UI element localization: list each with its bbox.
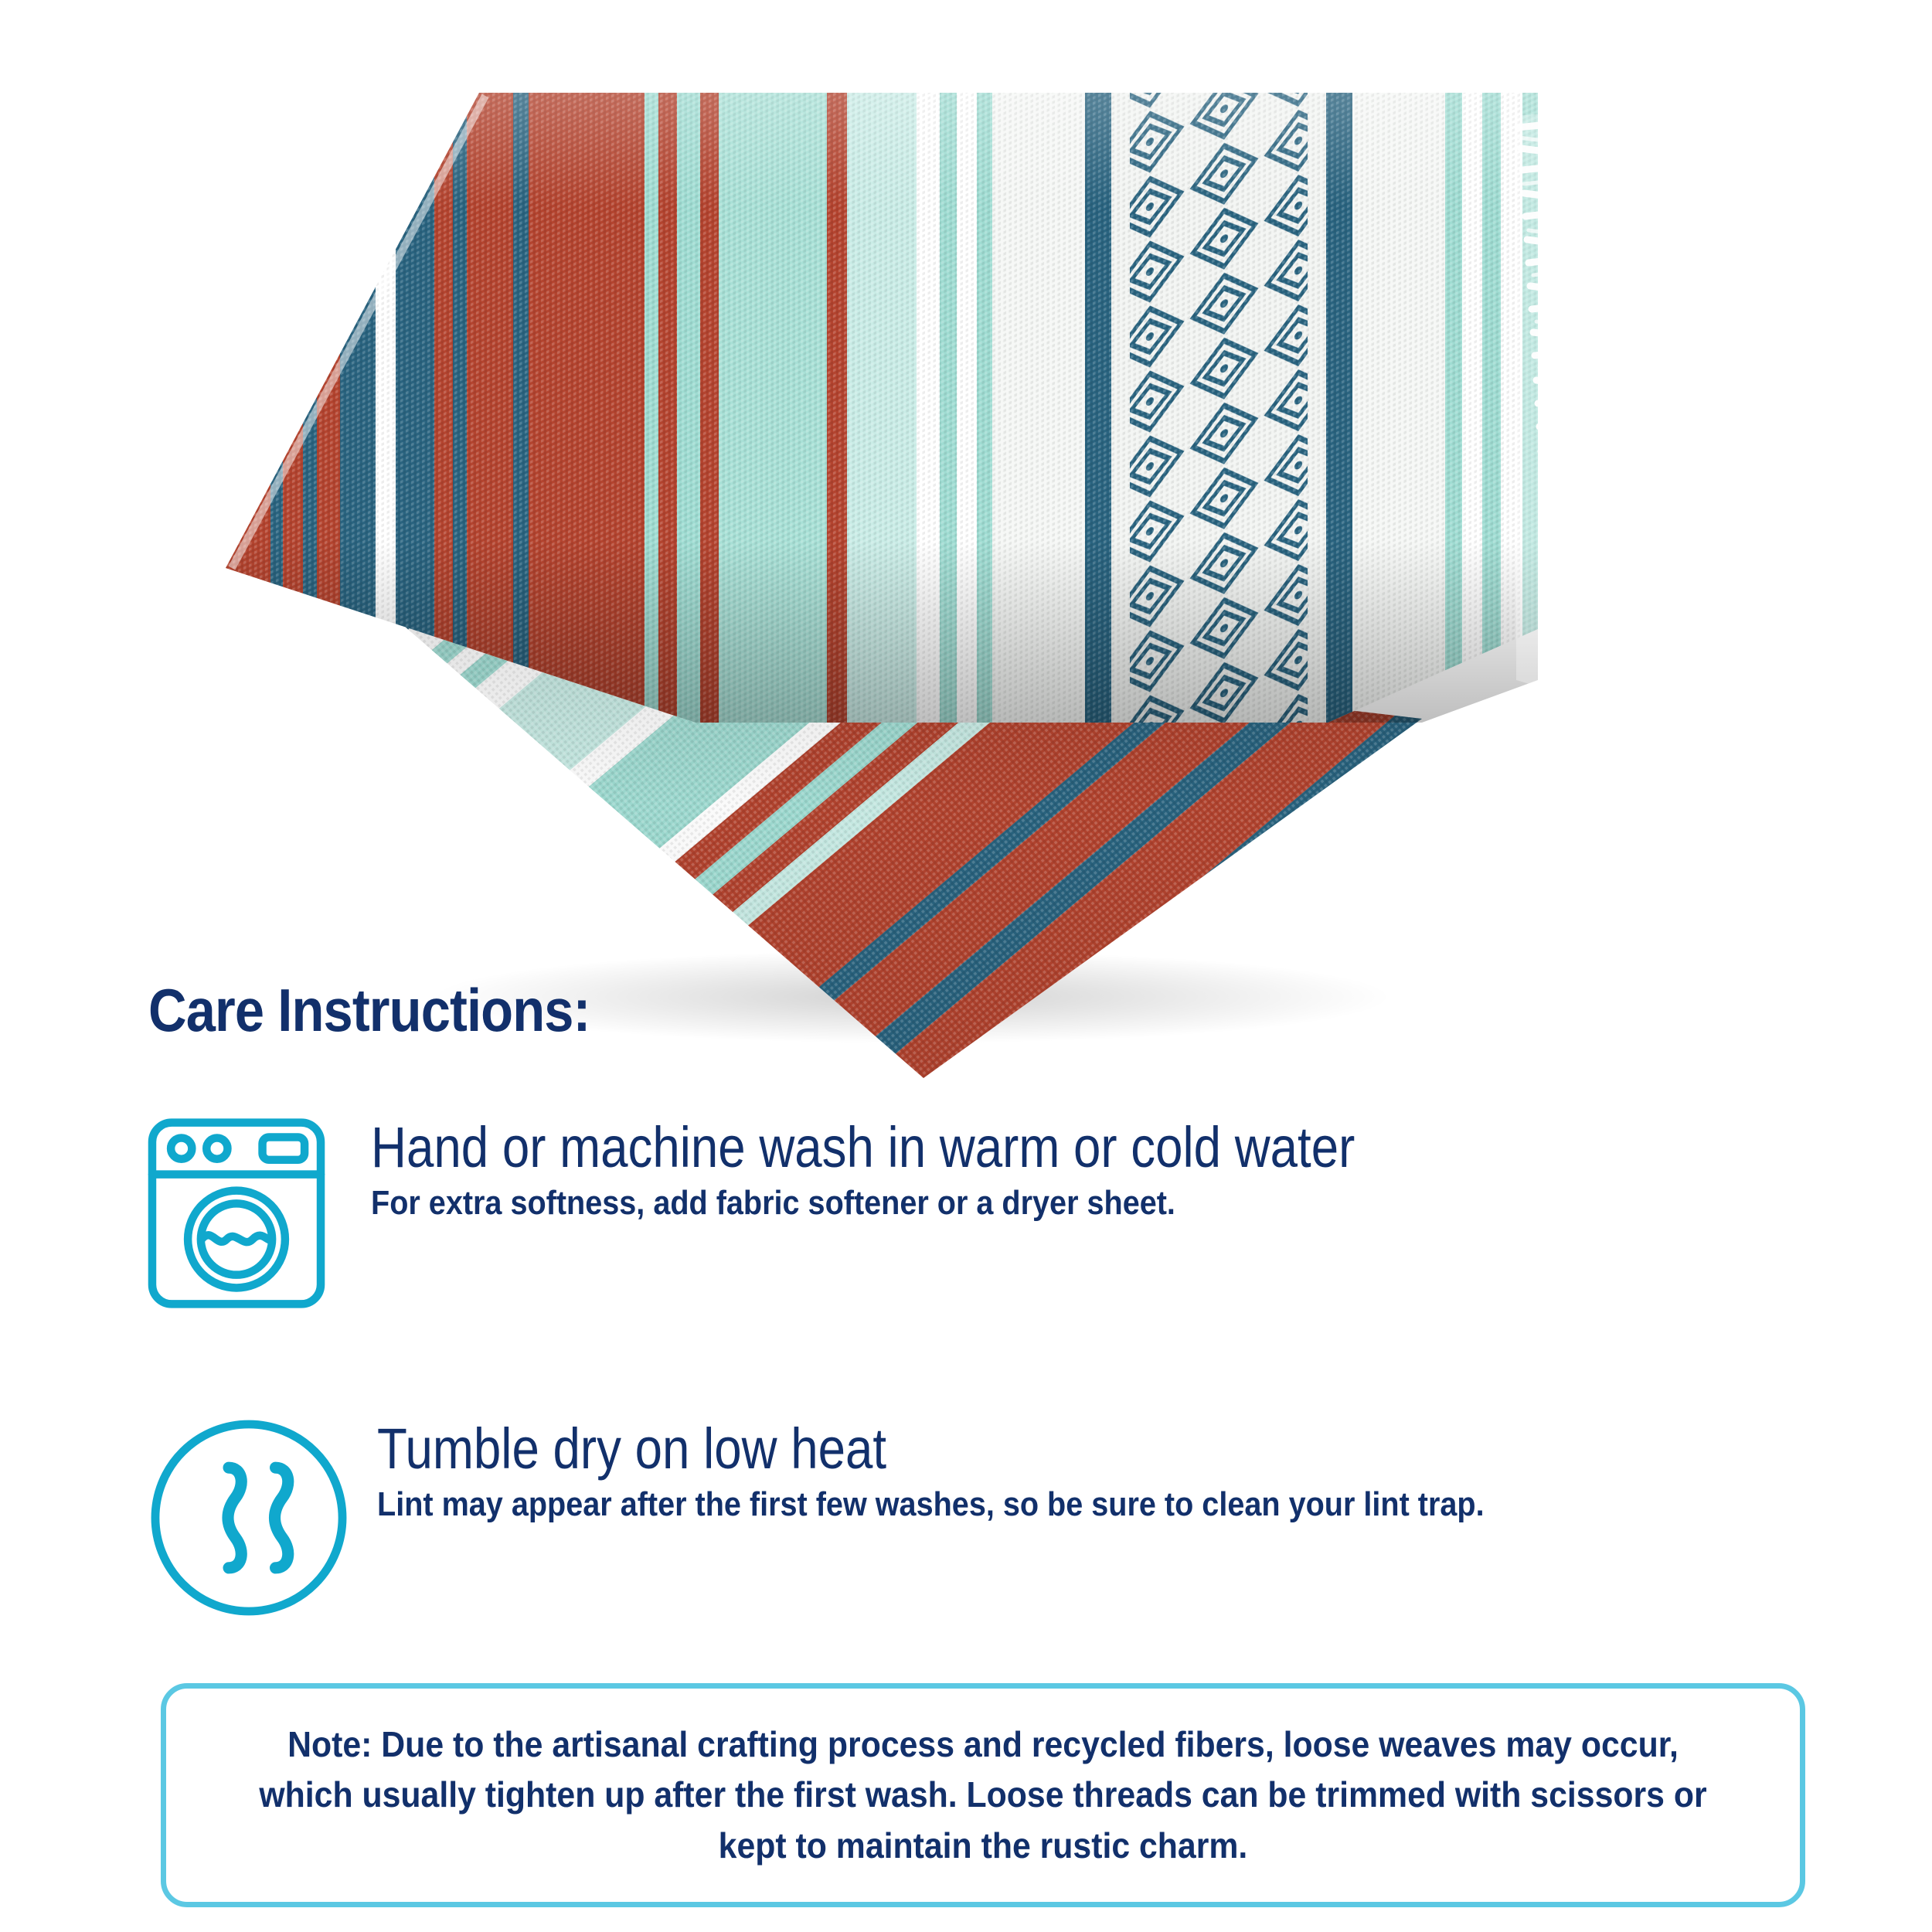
care-instruction-wash: Hand or machine wash in warm or cold wat… xyxy=(139,1113,1515,1314)
blanket-fringe xyxy=(1516,113,1896,696)
blanket-illustration xyxy=(0,0,1932,1097)
note-text: Note: Due to the artisanal crafting proc… xyxy=(223,1719,1743,1871)
tumble-dry-glyph xyxy=(145,1414,352,1621)
care-subtitle-dry: Lint may appear after the first few wash… xyxy=(377,1482,1485,1526)
care-text-wash: Hand or machine wash in warm or cold wat… xyxy=(371,1113,1515,1225)
care-text-dry: Tumble dry on low heat Lint may appear a… xyxy=(377,1414,1607,1526)
washing-machine-glyph xyxy=(139,1113,334,1314)
tumble-dry-heat-icon xyxy=(139,1414,377,1621)
care-instruction-dry: Tumble dry on low heat Lint may appear a… xyxy=(139,1414,1607,1621)
blanket-product-photo xyxy=(0,0,1932,1097)
washing-machine-icon xyxy=(139,1113,371,1314)
care-title-dry: Tumble dry on low heat xyxy=(377,1420,1435,1478)
care-subtitle-wash: For extra softness, add fabric softener … xyxy=(371,1181,1401,1225)
note-callout-box: Note: Due to the artisanal crafting proc… xyxy=(161,1683,1805,1907)
care-title-wash: Hand or machine wash in warm or cold wat… xyxy=(371,1119,1355,1176)
page-title: Care Instructions: xyxy=(148,975,590,1046)
